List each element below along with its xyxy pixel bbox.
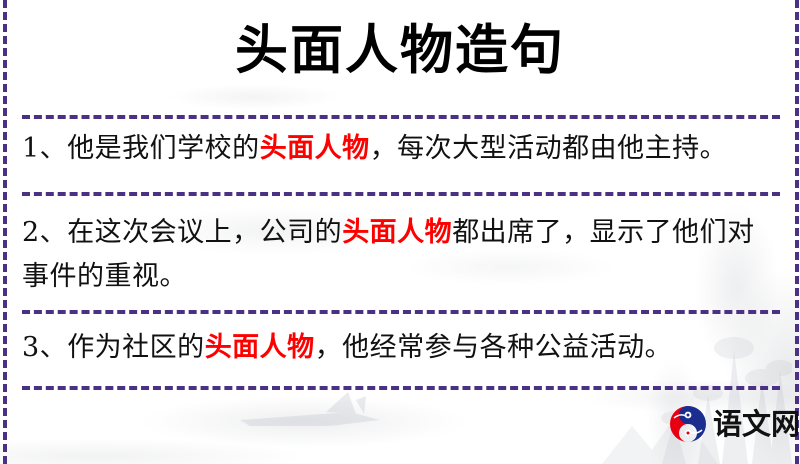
separator-line-1 — [22, 115, 780, 119]
sentence-3-before: 作为社区的 — [67, 332, 205, 363]
sentence-2-index: 2、 — [22, 217, 67, 248]
separator-line-2 — [22, 192, 780, 196]
yin-yang-fish-logo-icon — [668, 404, 708, 444]
separator-line-3 — [22, 310, 780, 314]
separator-line-4 — [22, 386, 780, 390]
sentence-3-index: 3、 — [22, 332, 67, 363]
sentence-1-keyword: 头面人物 — [260, 133, 370, 164]
sentence-3-after: ，他经常参与各种公益活动。 — [315, 332, 673, 363]
sentence-3-keyword: 头面人物 — [205, 332, 315, 363]
page-title: 头面人物造句 — [0, 19, 800, 82]
site-logo[interactable]: 语文网 — [668, 404, 800, 444]
sentence-1-index: 1、 — [22, 133, 67, 164]
boat-watermark — [230, 390, 410, 435]
sentence-2-before: 在这次会议上，公司的 — [67, 217, 342, 248]
example-sentence-3: 3、作为社区的头面人物，他经常参与各种公益活动。 — [22, 326, 782, 370]
example-sentence-2: 2、在这次会议上，公司的头面人物都出席了，显示了他们对事件的重视。 — [22, 211, 782, 299]
example-sentence-1: 1、他是我们学校的头面人物，每次大型活动都由他主持。 — [22, 127, 782, 171]
sentence-1-after: ，每次大型活动都由他主持。 — [370, 133, 728, 164]
sentence-2-keyword: 头面人物 — [342, 217, 452, 248]
site-logo-text: 语文网 — [713, 410, 800, 439]
slide-canvas: 头面人物造句 1、他是我们学校的头面人物，每次大型活动都由他主持。 2、在这次会… — [0, 0, 800, 464]
sentence-1-before: 他是我们学校的 — [67, 133, 260, 164]
